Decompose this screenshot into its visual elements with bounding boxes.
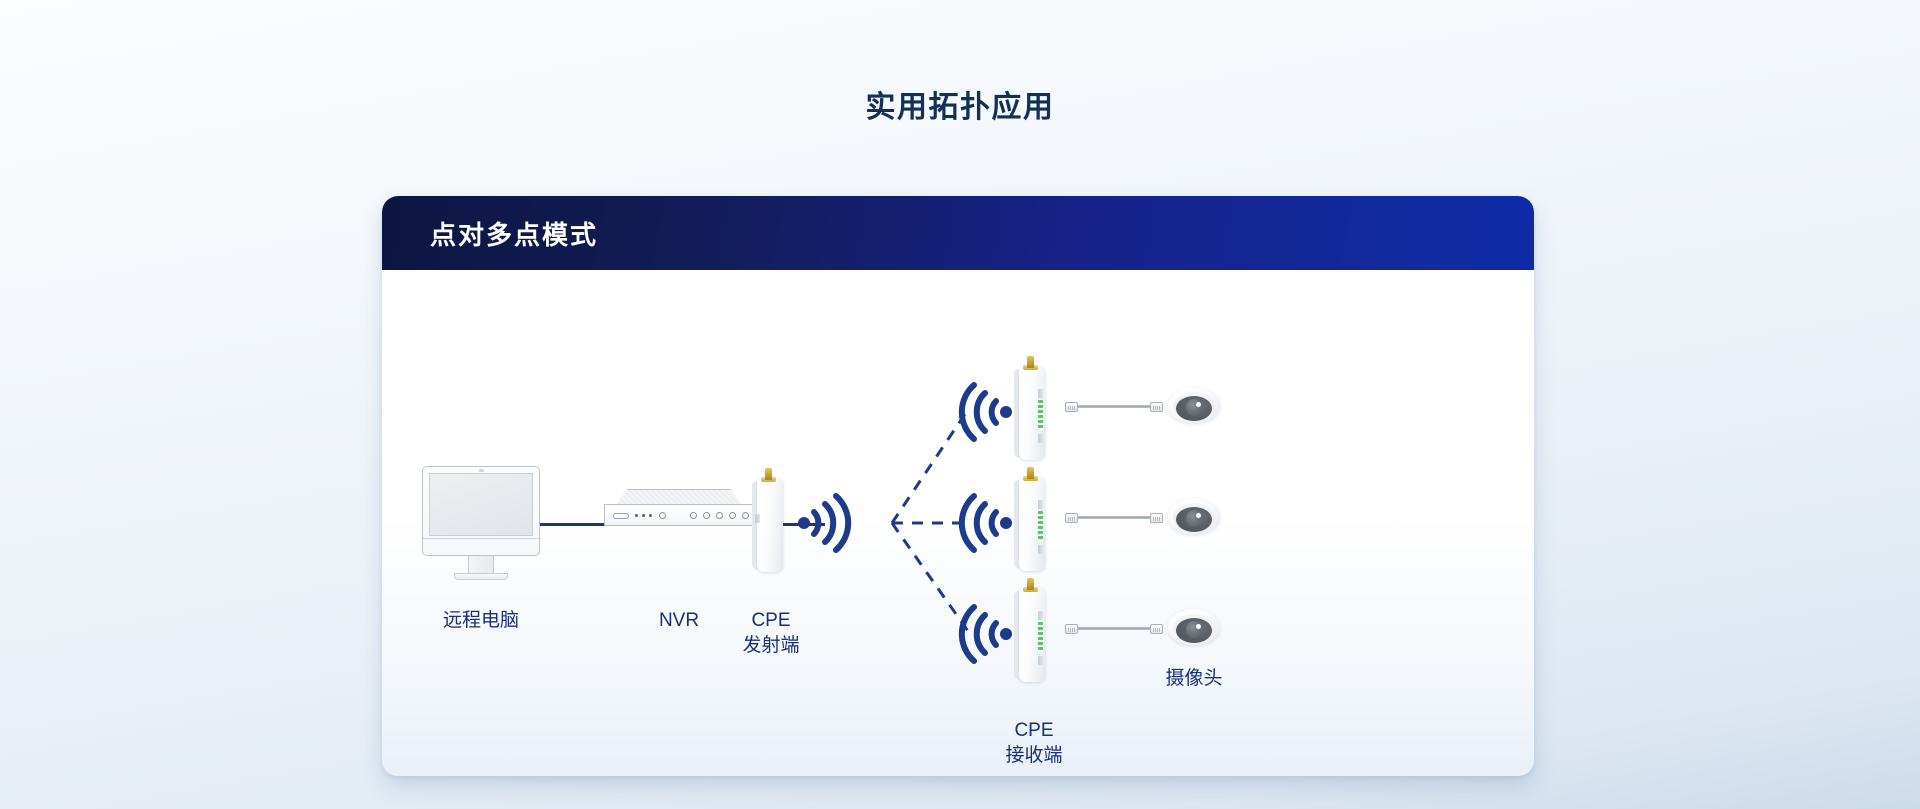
- node-camera-middle[interactable]: [1168, 498, 1220, 534]
- webcam-dot-icon: [479, 469, 484, 472]
- card-header: 点对多点模式: [382, 196, 1534, 270]
- nvr-front-panel: [604, 504, 754, 526]
- cpe-rx-bottom-port-upper: [1038, 611, 1043, 620]
- cpe-transmitter-icon: [757, 478, 783, 572]
- wifi-signal-receive-icon-bottom: [954, 604, 1014, 664]
- cpe-rx-top-port-lower: [1038, 434, 1043, 443]
- card-header-title: 点对多点模式: [430, 215, 598, 252]
- nvr-led-2: [642, 514, 645, 517]
- desktop-monitor-icon: [422, 466, 540, 556]
- nvr-port-5: [742, 512, 749, 519]
- cpe-rx-top-port-upper: [1038, 389, 1043, 398]
- cpe-tx-port: [755, 514, 760, 523]
- camera-ir-led: [1196, 402, 1201, 407]
- ethernet-cable-top: [1068, 405, 1160, 408]
- node-camera-bottom[interactable]: [1168, 609, 1220, 645]
- rj45-plug-right-middle: [1150, 513, 1163, 523]
- monitor-screen: [429, 473, 533, 536]
- node-remote-pc[interactable]: [422, 466, 540, 581]
- nvr-led-1: [635, 514, 638, 517]
- nvr-led-3: [649, 514, 652, 517]
- cpe-rx-top-led-strip: [1038, 400, 1043, 430]
- cpe-rx-bottom-antenna-icon: [1027, 578, 1034, 590]
- node-nvr[interactable]: [604, 489, 754, 529]
- rj45-plug-right-top: [1150, 402, 1163, 412]
- node-cpe-receiver-bottom[interactable]: [1012, 578, 1056, 694]
- wire-pc-to-nvr: [540, 523, 605, 526]
- wifi-signal-receive-icon-middle: [954, 493, 1014, 553]
- nvr-port-4: [729, 512, 736, 519]
- nvr-port-1: [690, 512, 697, 519]
- cpe-rx-middle-port-lower: [1038, 545, 1043, 554]
- topology-card: 点对多点模式 远程电脑: [382, 196, 1534, 776]
- dome-camera-icon: [1168, 387, 1220, 423]
- monitor-chin: [423, 538, 541, 557]
- card-body: 远程电脑 NVR: [382, 270, 1534, 776]
- nvr-port-3: [716, 512, 723, 519]
- cpe-rx-top-antenna-icon: [1027, 356, 1034, 368]
- monitor-stand-neck: [468, 556, 494, 574]
- nvr-drive-slot: [613, 513, 629, 519]
- page-title: 实用拓扑应用: [0, 82, 1920, 126]
- node-camera-top[interactable]: [1168, 387, 1220, 423]
- rj45-plug-left-bottom: [1065, 624, 1078, 634]
- camera-ir-led: [1196, 513, 1201, 518]
- cpe-rx-middle-led-strip: [1038, 511, 1043, 541]
- label-camera: 摄像头: [1114, 666, 1274, 691]
- nvr-power-button[interactable]: [659, 512, 666, 519]
- cpe-rx-middle-antenna-icon: [1027, 467, 1034, 479]
- nvr-recorder-icon: [616, 489, 742, 505]
- node-cpe-receiver-middle[interactable]: [1012, 467, 1056, 583]
- dome-camera-icon: [1168, 609, 1220, 645]
- rj45-plug-left-middle: [1065, 513, 1078, 523]
- camera-ir-led: [1196, 624, 1201, 629]
- wifi-signal-receive-icon-top: [954, 382, 1014, 442]
- monitor-stand-foot: [454, 573, 508, 580]
- nvr-port-2: [703, 512, 710, 519]
- node-cpe-transmitter[interactable]: [750, 468, 792, 578]
- cpe-rx-bottom-port-lower: [1038, 656, 1043, 665]
- node-cpe-receiver-top[interactable]: [1012, 356, 1056, 472]
- ethernet-cable-middle: [1068, 516, 1160, 519]
- cpe-tx-antenna-icon: [765, 468, 772, 480]
- wifi-signal-transmit-icon: [796, 492, 858, 554]
- rj45-plug-left-top: [1065, 402, 1078, 412]
- cpe-rx-middle-port-upper: [1038, 500, 1043, 509]
- label-cpe-receiver: CPE 接收端: [954, 718, 1114, 768]
- label-cpe-transmitter: CPE 发射端: [691, 608, 851, 658]
- rj45-plug-right-bottom: [1150, 624, 1163, 634]
- ethernet-cable-bottom: [1068, 627, 1160, 630]
- cpe-rx-bottom-led-strip: [1038, 622, 1043, 652]
- label-remote-pc: 远程电脑: [401, 608, 561, 633]
- dome-camera-icon: [1168, 498, 1220, 534]
